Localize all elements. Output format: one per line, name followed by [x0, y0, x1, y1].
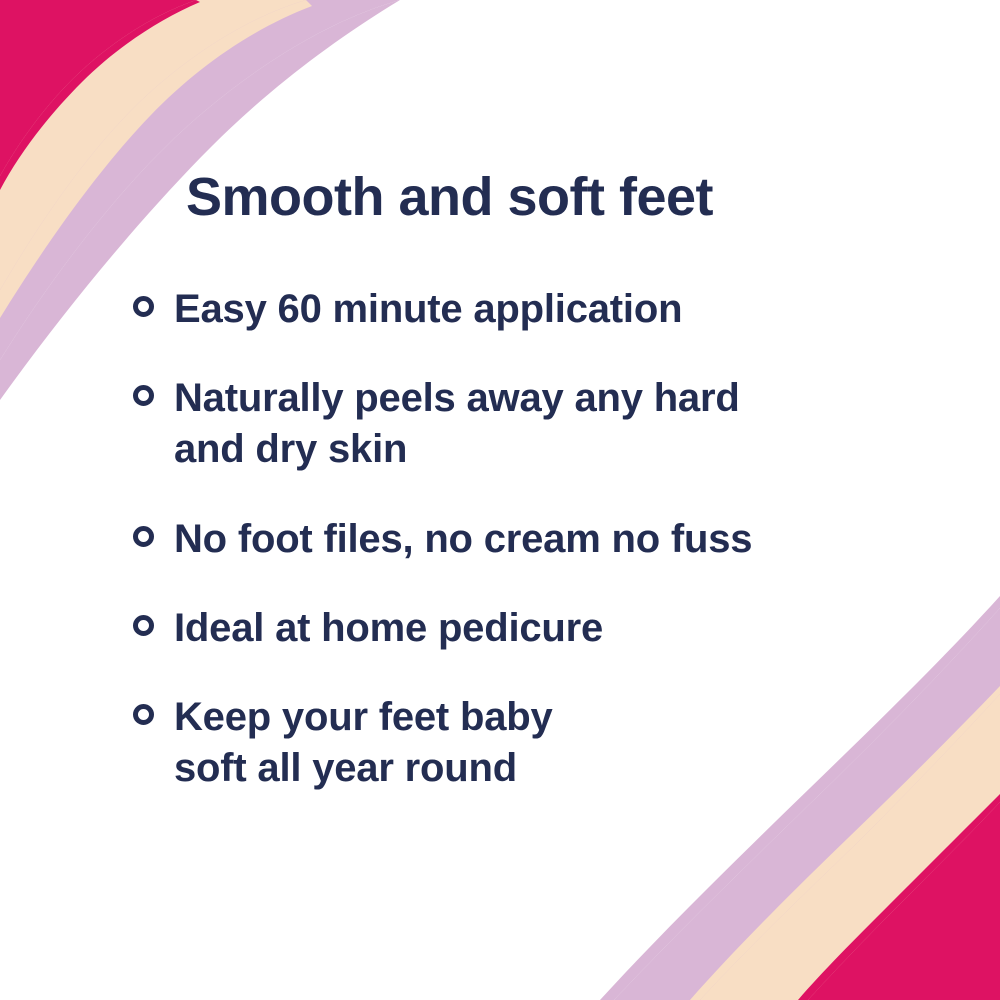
product-feature-poster: Smooth and soft feet Easy 60 minute appl… — [0, 0, 1000, 1000]
feature-text: Naturally peels away any hard and dry sk… — [174, 373, 933, 475]
feature-text: No foot files, no cream no fuss — [174, 514, 933, 565]
list-item: No foot files, no cream no fuss — [133, 514, 933, 565]
feature-list: Easy 60 minute application Naturally pee… — [133, 284, 933, 794]
ring-bullet-icon — [133, 296, 154, 317]
page-title: Smooth and soft feet — [186, 168, 713, 227]
ring-bullet-icon — [133, 704, 154, 725]
list-item: Ideal at home pedicure — [133, 603, 933, 654]
ring-bullet-icon — [133, 526, 154, 547]
ring-bullet-icon — [133, 385, 154, 406]
poster-content: Smooth and soft feet Easy 60 minute appl… — [0, 0, 1000, 1000]
list-item: Naturally peels away any hard and dry sk… — [133, 373, 933, 475]
feature-text: Ideal at home pedicure — [174, 603, 933, 654]
feature-text: Easy 60 minute application — [174, 284, 933, 335]
feature-text: Keep your feet baby soft all year round — [174, 692, 933, 794]
ring-bullet-icon — [133, 615, 154, 636]
list-item: Keep your feet baby soft all year round — [133, 692, 933, 794]
list-item: Easy 60 minute application — [133, 284, 933, 335]
